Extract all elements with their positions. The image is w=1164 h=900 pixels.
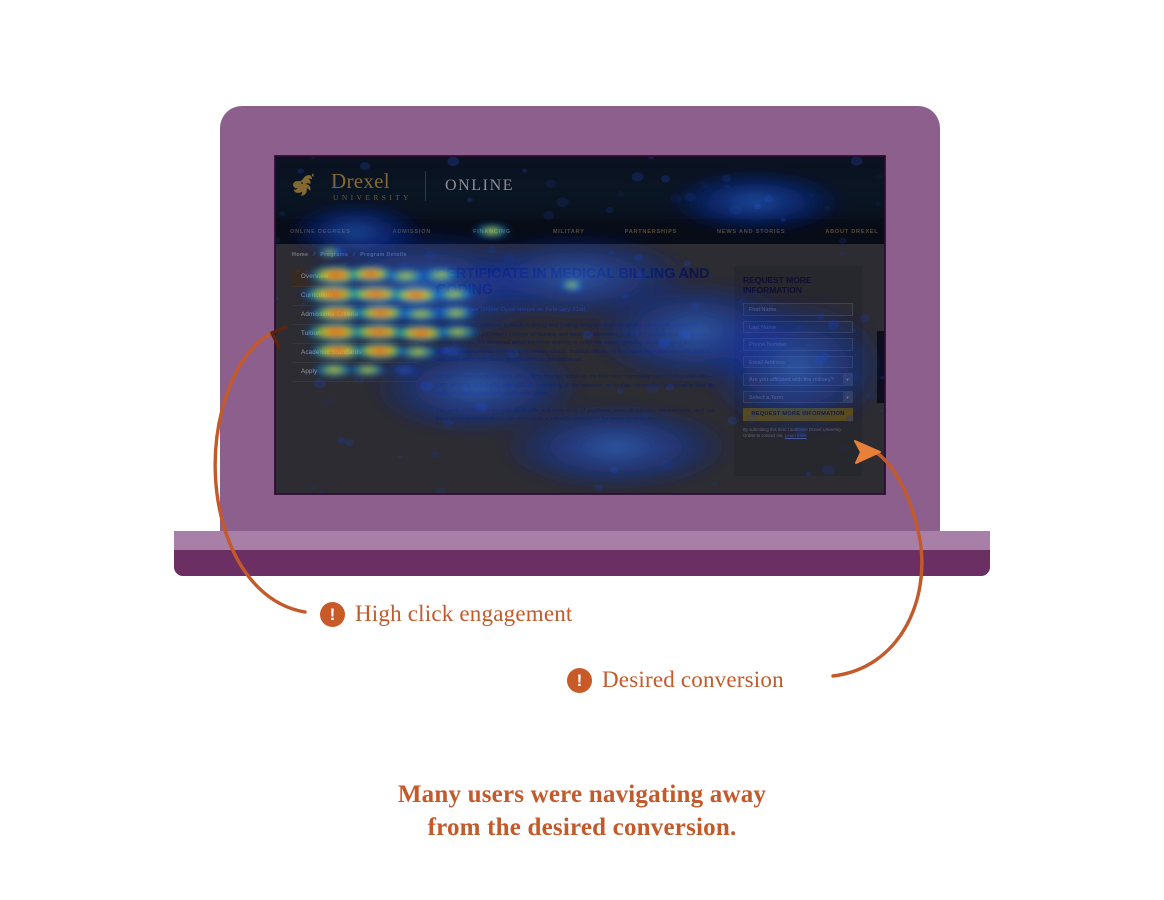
callout-label-click: High click engagement (355, 601, 573, 627)
chevron-down-icon: ▾ (843, 392, 852, 403)
side-menu-item-apply[interactable]: Apply (292, 363, 418, 382)
site-header: Drexel UNIVERSITY ONLINE (276, 157, 884, 219)
breadcrumb-separator: / (353, 252, 355, 258)
caption-line-1: Many users were navigating away (0, 778, 1164, 811)
nav-item-military[interactable]: MILITARY (553, 229, 585, 235)
nav-item-financing[interactable]: FINANCING (473, 229, 511, 235)
side-menu-item-academic-standards[interactable]: Academic Standards (292, 344, 418, 363)
infographic-stage: Drexel UNIVERSITY ONLINE ONLINE DEGREESA… (0, 0, 1164, 900)
breadcrumb-item-home[interactable]: Home (292, 252, 308, 258)
side-menu-item-admissions-criteria[interactable]: Admissions Criteria (292, 306, 418, 325)
side-menu-item-curriculum[interactable]: Curriculum (292, 287, 418, 306)
nav-item-admission[interactable]: ADMISSION (393, 229, 431, 235)
main-content: CERTIFICATE IN MEDICAL BILLING AND CODIN… (436, 266, 720, 432)
request-more-information-button[interactable]: REQUEST MORE INFORMATION (743, 408, 853, 421)
chevron-down-icon: ▾ (843, 374, 852, 385)
logo-divider (425, 171, 426, 201)
phone-field[interactable]: Phone Number (743, 338, 853, 351)
learn-more-link[interactable]: Learn more (785, 433, 807, 438)
breadcrumb-separator: / (313, 252, 315, 258)
logo-wordmark: Drexel (331, 171, 412, 192)
logo-text: Drexel UNIVERSITY (331, 171, 412, 202)
page-title: CERTIFICATE IN MEDICAL BILLING AND CODIN… (436, 266, 720, 298)
term-select[interactable]: Select a Term:▾ (743, 391, 853, 404)
side-menu-item-overview[interactable]: Overview (292, 268, 418, 287)
nav-item-partnerships[interactable]: PARTNERSHIPS (625, 229, 677, 235)
nav-item-online-degrees[interactable]: ONLINE DEGREES (290, 229, 351, 235)
logo-online: ONLINE (445, 177, 514, 195)
nav-item-news-and-stories[interactable]: NEWS AND STORIES (717, 229, 785, 235)
breadcrumb-item-program-details: Program Details (360, 252, 407, 258)
request-info-form: REQUEST MORE INFORMATION First NameLast … (734, 266, 862, 476)
body-paragraph-3: The skills you'll learn are fully applic… (436, 407, 720, 424)
laptop-hinge (174, 531, 990, 550)
breadcrumb: Home/Programs/Program Details (292, 252, 407, 258)
program-side-menu: OverviewCurriculumAdmissions CriteriaTui… (292, 268, 418, 382)
exclamation-icon: ! (320, 602, 345, 627)
page-body: Home/Programs/Program Details OverviewCu… (276, 244, 884, 493)
site-navigation: ONLINE DEGREESADMISSIONFINANCINGMILITARY… (276, 219, 884, 244)
first-name-field[interactable]: First Name (743, 303, 853, 316)
callout-desired-conversion: ! Desired conversion (567, 667, 784, 693)
body-paragraph-2: Drexel's online medical billing and codi… (436, 373, 720, 399)
laptop-screen: Drexel UNIVERSITY ONLINE ONLINE DEGREESA… (276, 157, 884, 493)
caption-line-2: from the desired conversion. (0, 811, 1164, 844)
nav-item-about-drexel[interactable]: ABOUT DREXEL (825, 229, 878, 235)
callout-high-click-engagement: ! High click engagement (320, 601, 573, 627)
open-house-link[interactable]: Register for our Online Open House on Fe… (436, 307, 720, 313)
last-name-field[interactable]: Last Name (743, 321, 853, 334)
email-field[interactable]: Email Address (743, 356, 853, 369)
laptop-base (174, 550, 990, 576)
site-logo[interactable]: Drexel UNIVERSITY ONLINE (290, 171, 514, 202)
body-paragraph-1: The accredited Certificate in Medical Bi… (436, 322, 720, 365)
side-menu-item-tuition[interactable]: Tuition (292, 325, 418, 344)
callout-label-conversion: Desired conversion (602, 667, 784, 693)
page-scrollbar[interactable] (877, 331, 884, 403)
form-fields: First NameLast NamePhone NumberEmail Add… (734, 295, 862, 421)
website-screenshot: Drexel UNIVERSITY ONLINE ONLINE DEGREESA… (276, 157, 884, 493)
form-title: REQUEST MORE INFORMATION (734, 266, 862, 295)
exclamation-icon: ! (567, 668, 592, 693)
breadcrumb-item-programs[interactable]: Programs (320, 252, 348, 258)
bottom-caption: Many users were navigating away from the… (0, 778, 1164, 844)
logo-sub-wordmark: UNIVERSITY (333, 194, 412, 202)
form-disclaimer: By submitting this form I authorize Drex… (734, 421, 862, 439)
dragon-icon (290, 173, 322, 199)
military-select[interactable]: Are you affiliated with the military?▾ (743, 373, 853, 386)
